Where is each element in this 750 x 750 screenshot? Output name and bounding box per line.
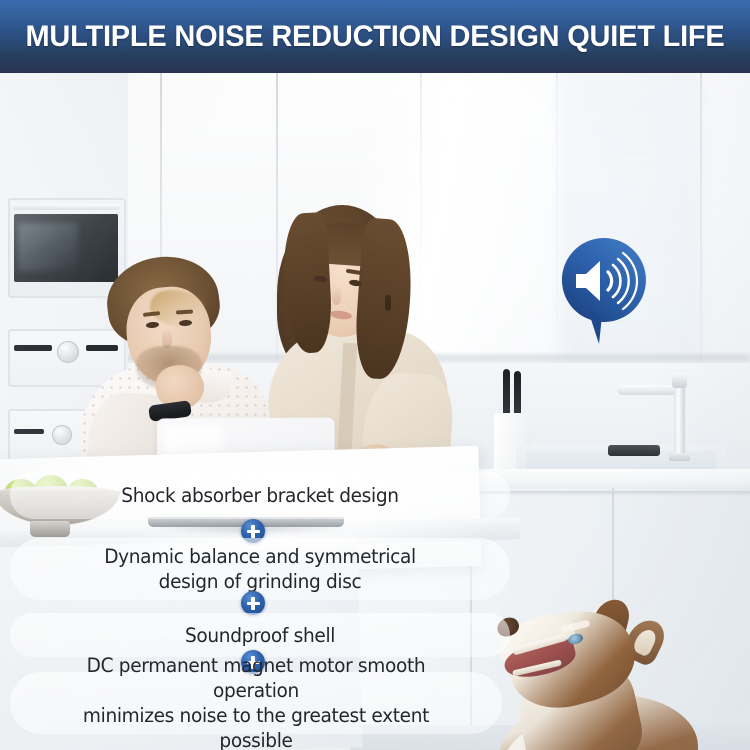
feature-label: Shock absorber bracket design bbox=[97, 483, 424, 508]
appliance-knob bbox=[57, 341, 79, 363]
oven-handle bbox=[12, 204, 120, 210]
header-banner: MULTIPLE NOISE REDUCTION DESIGN QUIET LI… bbox=[0, 0, 750, 73]
appliance-vent bbox=[14, 429, 44, 434]
feature-item[interactable]: DC permanent magnet motor smooth operati… bbox=[10, 672, 502, 734]
feature-label: DC permanent magnet motor smooth operati… bbox=[22, 653, 489, 750]
infographic-page: MULTIPLE NOISE REDUCTION DESIGN QUIET LI… bbox=[0, 0, 750, 750]
faucet-handle bbox=[672, 373, 687, 388]
oven-glass-reflection bbox=[18, 223, 78, 271]
feature-item[interactable]: Soundproof shell bbox=[10, 613, 510, 657]
faucet-body bbox=[674, 385, 685, 459]
smartphone bbox=[608, 445, 660, 456]
knife bbox=[503, 369, 510, 417]
feature-item[interactable]: Shock absorber bracket design bbox=[10, 471, 510, 519]
sound-badge[interactable] bbox=[558, 234, 654, 344]
fruit-bowl-base bbox=[30, 521, 70, 537]
page-title: MULTIPLE NOISE REDUCTION DESIGN QUIET LI… bbox=[13, 20, 737, 54]
plus-icon bbox=[241, 591, 265, 615]
appliance-vent bbox=[86, 345, 118, 351]
woman-nose bbox=[332, 285, 341, 305]
feature-label: Dynamic balance and symmetrical design o… bbox=[79, 544, 440, 594]
feature-label: Soundproof shell bbox=[160, 623, 360, 648]
speaker-sound-waves-icon bbox=[558, 234, 654, 344]
appliance-knob bbox=[52, 425, 72, 445]
man-nose bbox=[162, 328, 172, 348]
feature-item[interactable]: Dynamic balance and symmetrical design o… bbox=[10, 538, 510, 600]
knife bbox=[514, 371, 521, 417]
faucet-base bbox=[669, 453, 690, 461]
appliance-vent bbox=[14, 345, 52, 351]
woman-earring bbox=[385, 295, 391, 311]
cabinet-seam bbox=[700, 73, 702, 363]
